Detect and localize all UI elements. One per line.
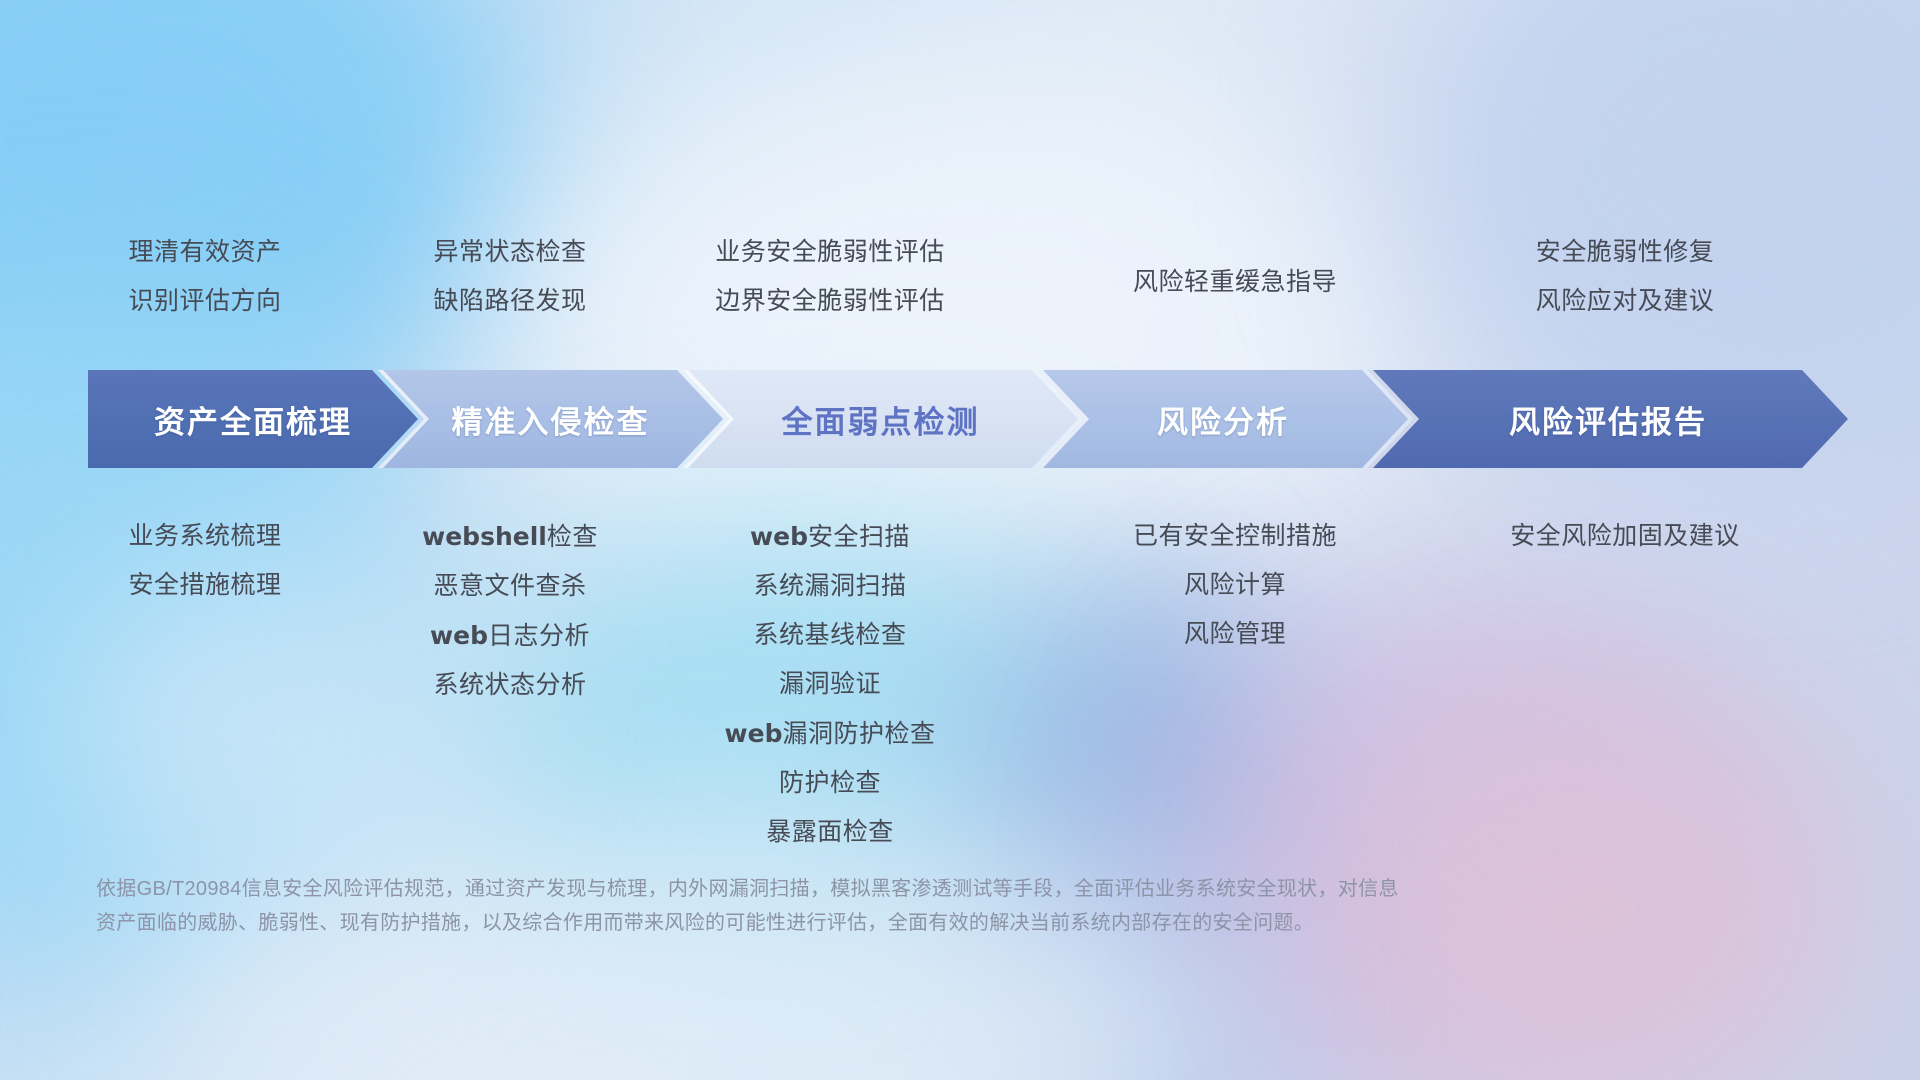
stage-2-bottom-item-4: 系统状态分析: [345, 661, 675, 710]
chevron-stage-4[interactable]: 风险分析: [1038, 370, 1408, 468]
latin-run: web: [725, 719, 783, 748]
stage-2-bottom-items: webshell检查恶意文件查杀web日志分析系统状态分析: [345, 512, 675, 710]
stage-4-bottom-item-3: 风险管理: [1040, 610, 1430, 659]
stage-3-bottom-item-5: web漏洞防护检查: [635, 709, 1025, 759]
stage-3-bottom-item-2: 系统漏洞扫描: [635, 562, 1025, 611]
stage-5-bottom-item-1: 安全风险加固及建议: [1430, 512, 1820, 561]
chevron-label-1: 资产全面梳理: [154, 397, 352, 442]
stage-1-bottom-item-1: 业务系统梳理: [40, 512, 370, 561]
chevron-label-4: 风险分析: [1157, 397, 1289, 442]
stage-3-bottom-item-3: 系统基线检查: [635, 611, 1025, 660]
stage-1-bottom-items: 业务系统梳理安全措施梳理: [40, 512, 370, 610]
stage-4-bottom-item-1: 已有安全控制措施: [1040, 512, 1430, 561]
process-chevron-banner: 资产全面梳理 精准入侵检查 全面弱点检测 风险分析 风险评估报告: [88, 370, 1848, 468]
stage-3-bottom-item-1: web安全扫描: [635, 512, 1025, 562]
stage-4-bottom-item-2: 风险计算: [1040, 561, 1430, 610]
stage-3-bottom-items: web安全扫描系统漏洞扫描系统基线检查漏洞验证web漏洞防护检查防护检查暴露面检…: [635, 512, 1025, 857]
chevron-stage-3[interactable]: 全面弱点检测: [683, 370, 1078, 468]
chevron-stage-2[interactable]: 精准入侵检查: [378, 370, 723, 468]
stage-3-bottom-item-4: 漏洞验证: [635, 660, 1025, 709]
chevron-stage-1[interactable]: 资产全面梳理: [88, 370, 418, 468]
stage-4-bottom-items: 已有安全控制措施风险计算风险管理: [1040, 512, 1430, 659]
stage-3-bottom-item-7: 暴露面检查: [635, 808, 1025, 857]
latin-run: web: [430, 621, 488, 650]
chevron-label-2: 精准入侵检查: [452, 397, 650, 442]
chevron-label-5: 风险评估报告: [1509, 397, 1707, 442]
latin-run: webshell: [422, 522, 547, 551]
stage-3-bottom-item-6: 防护检查: [635, 759, 1025, 808]
slide-canvas: 理清有效资产 识别评估方向 异常状态检查 缺陷路径发现 业务安全脆弱性评估 边界…: [0, 0, 1920, 1080]
chevron-label-3: 全面弱点检测: [782, 397, 980, 442]
stage-1-bottom-item-2: 安全措施梳理: [40, 561, 370, 610]
latin-run: web: [750, 522, 808, 551]
stage-2-bottom-item-3: web日志分析: [345, 611, 675, 661]
stage-5-bottom-items: 安全风险加固及建议: [1430, 512, 1820, 561]
footer-note: 依据GB/T20984信息安全风险评估规范，通过资产发现与梳理，内外网漏洞扫描，…: [96, 872, 1736, 940]
chevron-stage-5[interactable]: 风险评估报告: [1368, 370, 1848, 468]
stage-2-bottom-item-1: webshell检查: [345, 512, 675, 562]
footer-note-line-1: 依据GB/T20984信息安全风险评估规范，通过资产发现与梳理，内外网漏洞扫描，…: [96, 872, 1736, 906]
footer-note-line-2: 资产面临的威胁、脆弱性、现有防护措施，以及综合作用而带来风险的可能性进行评估，全…: [96, 906, 1736, 940]
stage-2-bottom-item-2: 恶意文件查杀: [345, 562, 675, 611]
